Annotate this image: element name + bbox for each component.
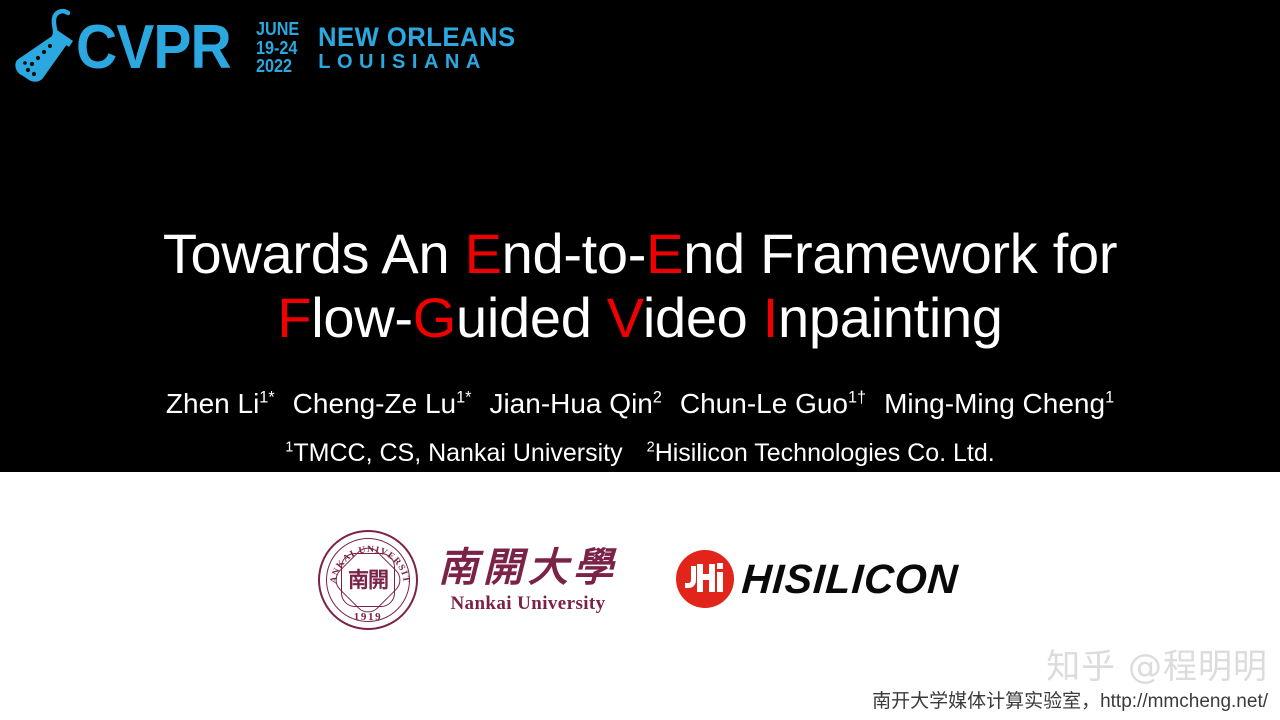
title-segment: V xyxy=(607,286,643,349)
cvpr-dates: JUNE 19-24 2022 xyxy=(256,20,299,75)
affiliation-list: 1TMCC, CS, Nankai University2Hisilicon T… xyxy=(0,437,1280,469)
author-affiliation-mark: 1* xyxy=(456,389,471,407)
cvpr-date-days: 19-24 xyxy=(256,39,299,57)
title-segment: uided xyxy=(456,286,607,349)
nankai-wordmark: 南開大學 Nankai University xyxy=(438,545,618,616)
nankai-university-logo: NANKAI UNIVERSITY 南開 1919 南開大學 Nankai Un… xyxy=(318,530,618,630)
footer-lab-name: 南开大学媒体计算实验室， xyxy=(872,690,1100,712)
footer-url: http://mmcheng.net/ xyxy=(1100,691,1268,712)
title-segment: npainting xyxy=(778,286,1003,349)
author-name: Ming-Ming Cheng1 xyxy=(884,388,1114,419)
cvpr-date-year: 2022 xyxy=(256,57,299,75)
saxophone-icon xyxy=(10,6,80,90)
nankai-english-name: Nankai University xyxy=(438,592,618,616)
cvpr-state: LOUISIANA xyxy=(318,52,526,73)
author-name: Zhen Li1* xyxy=(166,388,275,419)
title-segment: I xyxy=(763,286,778,349)
paper-title-line-1: Towards An End-to-End Framework for xyxy=(0,222,1280,286)
title-segment: F xyxy=(277,286,311,349)
title-segment: E xyxy=(646,222,683,285)
title-segment: nd Framework for xyxy=(683,222,1117,285)
author-affiliation-mark: 1† xyxy=(848,389,866,407)
cvpr-city: NEW ORLEANS xyxy=(318,23,516,51)
footer-credit: 南开大学媒体计算实验室，http://mmcheng.net/ xyxy=(872,688,1268,715)
affiliation-mark: 1 xyxy=(285,440,293,456)
affiliation-mark: 2 xyxy=(647,440,655,456)
cvpr-conference-logo: CVPR JUNE 19-24 2022 NEW ORLEANS LOUISIA… xyxy=(10,6,526,90)
title-segment: low- xyxy=(311,286,412,349)
sponsor-logo-row: NANKAI UNIVERSITY 南開 1919 南開大學 Nankai Un… xyxy=(0,520,1280,650)
author-affiliation-mark: 1 xyxy=(1105,389,1114,407)
zhihu-watermark: 知乎 @程明明 xyxy=(1046,648,1268,686)
title-segment: ideo xyxy=(643,286,763,349)
author-name: Jian-Hua Qin2 xyxy=(489,388,661,419)
author-affiliation-mark: 1* xyxy=(259,389,274,407)
hisilicon-wordmark: HISILICON xyxy=(741,559,960,600)
nankai-seal-hanzi: 南開 xyxy=(320,567,416,593)
title-segment: Towards An xyxy=(163,222,465,285)
nankai-seal-icon: NANKAI UNIVERSITY 南開 1919 xyxy=(318,530,418,630)
author-name: Cheng-Ze Lu1* xyxy=(293,388,472,419)
cvpr-location: NEW ORLEANS LOUISIANA xyxy=(318,23,526,73)
author-list: Zhen Li1*Cheng-Ze Lu1*Jian-Hua Qin2Chun-… xyxy=(0,386,1280,422)
nankai-chinese-name: 南開大學 xyxy=(438,545,618,591)
author-name: Chun-Le Guo1† xyxy=(680,388,866,419)
slide-root: CVPR JUNE 19-24 2022 NEW ORLEANS LOUISIA… xyxy=(0,0,1280,720)
affiliation-entry: 2Hisilicon Technologies Co. Ltd. xyxy=(647,439,995,467)
cvpr-wordmark: CVPR xyxy=(76,17,231,79)
hisilicon-logo: HISILICON xyxy=(676,550,958,608)
title-segment: nd-to- xyxy=(502,222,647,285)
title-segment: G xyxy=(413,286,456,349)
title-segment: E xyxy=(465,222,502,285)
nankai-seal-year: 1919 xyxy=(320,611,416,623)
paper-title: Towards An End-to-End Framework for Flow… xyxy=(0,222,1280,350)
author-affiliation-mark: 2 xyxy=(653,389,662,407)
hisilicon-mark-icon xyxy=(676,550,734,608)
paper-title-line-2: Flow-Guided Video Inpainting xyxy=(0,286,1280,350)
affiliation-entry: 1TMCC, CS, Nankai University xyxy=(285,439,622,467)
cvpr-date-month: JUNE xyxy=(256,20,299,38)
